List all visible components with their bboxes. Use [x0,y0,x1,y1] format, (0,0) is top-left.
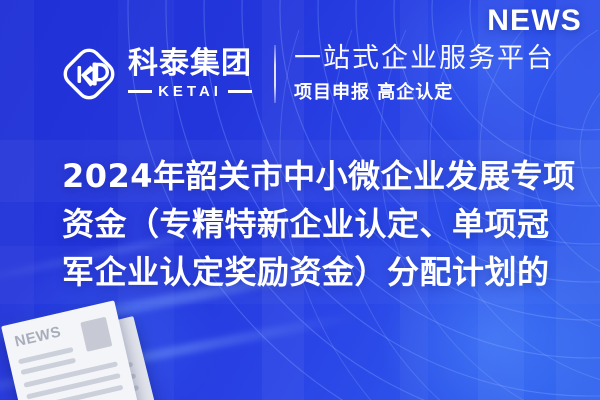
logo-rule-left [128,90,152,93]
news-banner: NEWS 科泰集团 [0,0,600,400]
newspaper-headline: NEWS [13,323,63,350]
news-watermark-label: NEWS [487,6,582,36]
newspaper-stack-icon: NEWS [4,298,184,400]
page-title-line: 军企业认定奖励资金）分配计划的 [62,248,566,296]
brand-logo[interactable]: 科泰集团 KETAI [60,45,252,103]
newspaper-image-block [80,317,112,352]
page-title-line: 2024年韶关市中小微企业发展专项 [62,152,566,200]
banner-header: 科泰集团 KETAI 一站式企业服务平台 项目申报 高企认定 [0,34,600,114]
logo-rule-right [228,90,252,93]
newspaper-sheet-front: NEWS [1,300,139,400]
brand-logo-text: 科泰集团 KETAI [128,49,252,99]
brand-name-en-row: KETAI [128,84,252,99]
tagline-block: 一站式企业服务平台 项目申报 高企认定 [294,44,555,103]
brand-name-cn: 科泰集团 [128,49,252,79]
ketai-diamond-kt-logo-icon [60,45,118,103]
page-title-line: 资金（专精特新企业认定、单项冠 [62,200,566,248]
page-title: 2024年韶关市中小微企业发展专项 资金（专精特新企业认定、单项冠 军企业认定奖… [62,152,566,296]
header-divider [274,45,276,103]
brand-name-en: KETAI [152,84,228,99]
tagline-secondary: 项目申报 高企认定 [294,78,555,104]
tagline-primary: 一站式企业服务平台 [294,44,555,73]
